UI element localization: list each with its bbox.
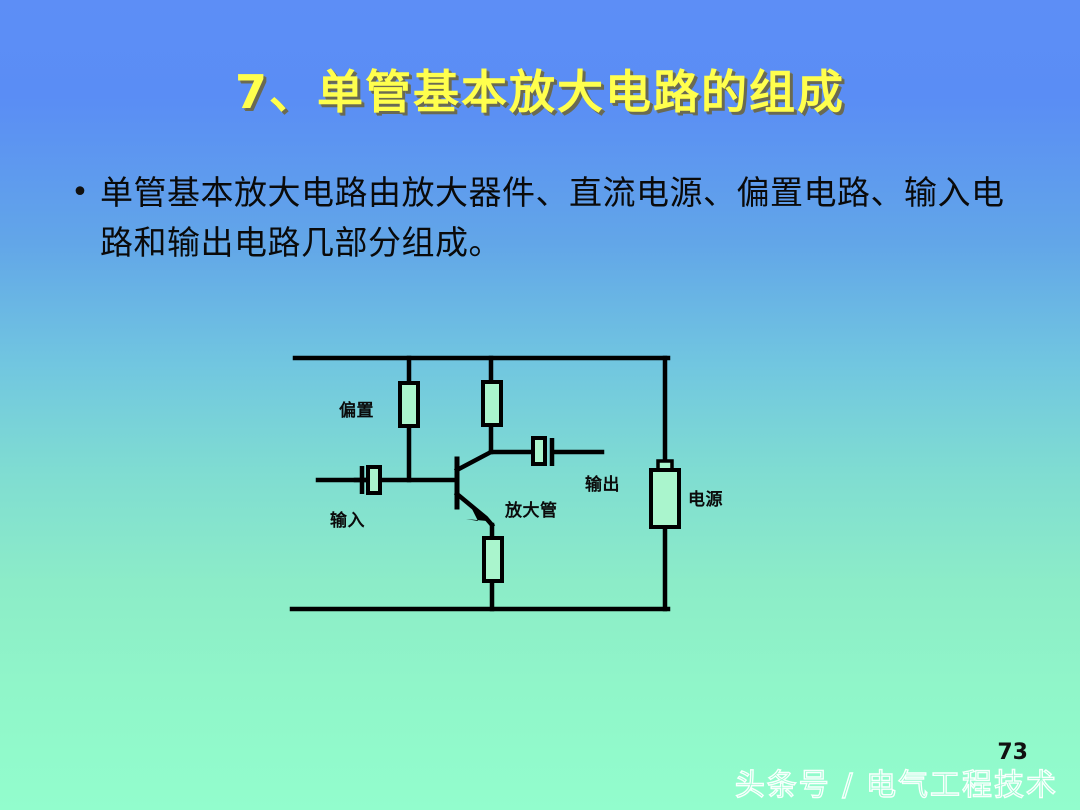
label-bias: 偏置 xyxy=(339,396,374,421)
body-text: 单管基本放大电路由放大器件、直流电源、偏置电路、输入电路和输出电路几部分组成。 xyxy=(100,168,1020,268)
label-transistor: 放大管 xyxy=(505,496,558,521)
transistor-collector-lead xyxy=(457,452,491,470)
transistor-emitter-arrow xyxy=(466,505,487,521)
output-capacitor-plate xyxy=(533,438,545,464)
label-power-supply: 电源 xyxy=(688,485,723,510)
transistor-emitter-lead xyxy=(457,494,492,525)
collector-resistor xyxy=(483,382,501,425)
bullet-marker: • xyxy=(60,168,100,218)
emitter-resistor xyxy=(484,538,502,581)
bias-resistor xyxy=(400,383,418,426)
label-input: 输入 xyxy=(330,506,365,531)
battery-terminal xyxy=(658,461,672,471)
slide-canvas: 7、单管基本放大电路的组成 • 单管基本放大电路由放大器件、直流电源、偏置电路、… xyxy=(0,0,1080,810)
page-title: 7、单管基本放大电路的组成 xyxy=(0,56,1080,122)
label-output: 输出 xyxy=(585,470,620,495)
bullet-paragraph: • 单管基本放大电路由放大器件、直流电源、偏置电路、输入电路和输出电路几部分组成… xyxy=(60,168,1020,268)
battery-body xyxy=(651,470,679,527)
watermark: 头条号 / 电气工程技术 xyxy=(735,760,1058,804)
input-capacitor-plate xyxy=(368,467,380,493)
